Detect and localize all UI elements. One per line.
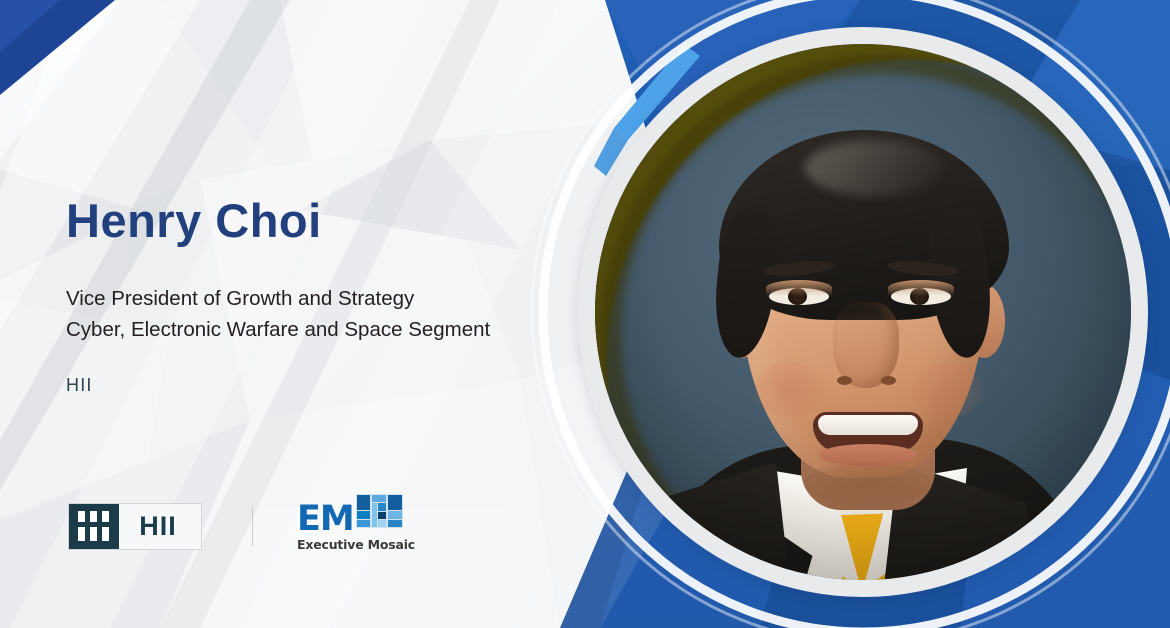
person-organization: HII <box>66 375 586 396</box>
executive-mosaic-logo[interactable]: EM <box>297 500 415 552</box>
profile-text-block: Henry Choi Vice President of Growth and … <box>66 196 586 396</box>
hii-logo[interactable]: HII <box>68 503 202 550</box>
em-mosaic-icon <box>356 494 403 533</box>
portrait-image <box>595 44 1131 580</box>
em-letters: EM <box>297 504 354 534</box>
portrait-photo <box>578 27 1148 597</box>
hii-wordmark: HII <box>119 504 201 549</box>
photo-vignette <box>595 44 1131 580</box>
em-logo-top: EM <box>297 500 403 534</box>
em-caption: Executive Mosaic <box>297 537 415 552</box>
person-title-line-2: Cyber, Electronic Warfare and Space Segm… <box>66 315 586 346</box>
logo-bar: HII EM <box>68 495 415 557</box>
executive-announcement-card: Henry Choi Vice President of Growth and … <box>0 0 1170 628</box>
logo-divider <box>252 506 253 546</box>
person-title-line-1: Vice President of Growth and Strategy <box>66 284 586 315</box>
hii-monogram-icon <box>77 511 111 541</box>
mosaic-grid-icon <box>356 494 403 528</box>
hii-mark-icon <box>69 504 119 549</box>
person-name: Henry Choi <box>66 196 586 246</box>
person-title: Vice President of Growth and Strategy Cy… <box>66 284 586 346</box>
